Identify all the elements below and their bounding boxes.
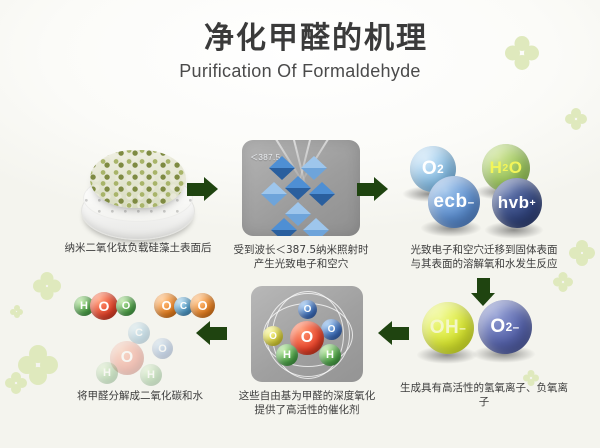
clover-icon (10, 305, 23, 318)
faded-atom-h-right: H (140, 364, 162, 386)
orb-o-blue-right: O (321, 319, 342, 340)
sphere-ecb-superscript: – (468, 196, 475, 209)
clover-icon (553, 272, 573, 292)
sphere-o2-minus-charge: – (513, 321, 520, 334)
step-1-diatomite: 纳米二氧化钛负载硅藻土表面后 (58, 142, 218, 255)
clover-icon (5, 372, 27, 394)
clover-icon (172, 28, 194, 50)
step-5-radicals: O O O O H H 这些自由基为甲醛的深度氧化 提供了高活性的催化剂 (232, 286, 382, 417)
sphere-hvb: hvb+ (492, 178, 542, 228)
step-6-products: H O O O C O C O O H H 将甲醛分解成二氧化碳和水 (52, 286, 228, 403)
atom-h-water-right: O (116, 296, 136, 316)
faded-atom-o-right: O (152, 338, 173, 359)
page-title-en: Purification Of Formaldehyde (0, 61, 600, 82)
product-molecules: H O O O C O C O O H H (52, 286, 228, 382)
orb-o-yellow-left: O (263, 326, 283, 346)
step-5-caption: 这些自由基为甲醛的深度氧化 提供了高活性的催化剂 (232, 389, 382, 417)
step-4-ions: OH– O2– 生成具有高活性的氢氧离子、负氧离子 (396, 292, 572, 409)
step-2-caption: 受到波长＜387.5纳米照射时 产生光致电子和空穴 (226, 243, 376, 271)
atom-o-co2-right: O (190, 293, 215, 318)
step-3-migration: O2 ecb– H2O hvb+ 光致电子和空穴迁移到固体表面 与其表面的溶解氧… (396, 140, 572, 271)
clover-icon (565, 108, 587, 130)
charge-carrier-spheres: O2 ecb– H2O hvb+ (396, 140, 572, 236)
orb-h-green-left: H (276, 344, 298, 366)
orb-h-green-right: H (319, 344, 341, 366)
sphere-o2-subscript: 2 (437, 163, 444, 176)
sphere-h2o-subscript: 2 (502, 162, 508, 174)
step-4-caption: 生成具有高活性的氢氧离子、负氧离子 (396, 381, 572, 409)
step-3-caption: 光致电子和空穴迁移到固体表面 与其表面的溶解氧和水发生反应 (396, 243, 572, 271)
sphere-o2-minus: O2– (478, 300, 532, 354)
uv-crystal-illustration: ＜387.5 (242, 140, 360, 236)
orb-o-blue-top: O (298, 300, 317, 319)
step-2-uv: ＜387.5 受到波长＜387.5纳米照射时 产生光致电子和空穴 (226, 140, 376, 271)
step-6-caption: 将甲醛分解成二氧化碳和水 (52, 389, 228, 403)
clover-icon (569, 240, 595, 266)
sphere-hvb-superscript: + (530, 197, 537, 209)
sphere-o2-minus-superscript: 2 (506, 321, 513, 334)
ion-spheres: OH– O2– (396, 292, 572, 374)
radical-cluster-illustration: O O O O H H (251, 286, 363, 382)
tio2-crystal-lattice (262, 154, 340, 228)
page-header: 净化甲醛的机理 Purification Of Formaldehyde (0, 22, 600, 82)
infographic-canvas: 净化甲醛的机理 Purification Of Formaldehyde 纳米二… (0, 0, 600, 448)
sphere-oh: OH– (422, 302, 474, 354)
sphere-ecb: ecb– (428, 176, 480, 228)
nano-titanium-granules (90, 150, 186, 208)
sphere-oh-superscript: – (459, 322, 466, 335)
step-1-caption: 纳米二氧化钛负载硅藻土表面后 (58, 241, 218, 255)
faded-atom-h-left: H (96, 362, 118, 384)
atom-o-water: O (90, 292, 118, 320)
page-title-cn: 净化甲醛的机理 (204, 22, 428, 55)
